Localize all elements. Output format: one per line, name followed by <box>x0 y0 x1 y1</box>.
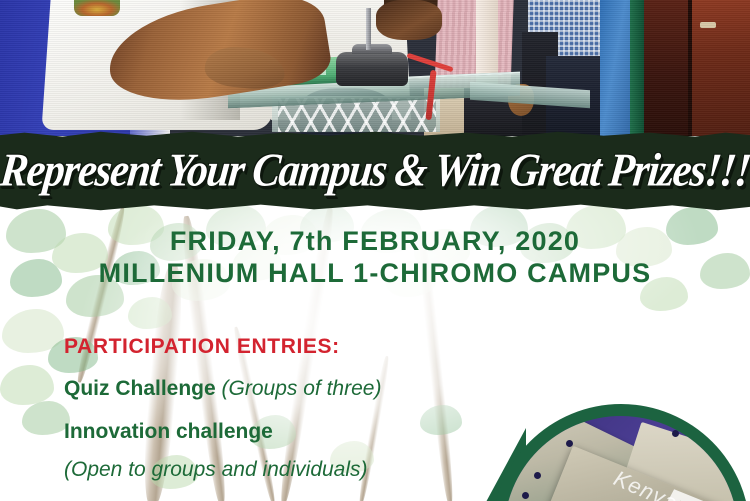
entry-item-innovation: Innovation challenge <box>64 420 273 444</box>
photo-shirt-badge <box>74 0 120 16</box>
entry-note: (Groups of three) <box>222 377 382 400</box>
photo-metal-apparatus <box>336 52 408 86</box>
event-date: FRIDAY, 7th FEBRUARY, 2020 <box>0 225 750 257</box>
banknote-dot <box>566 440 573 447</box>
leaf <box>0 365 54 405</box>
photo-podium-seam <box>688 0 692 136</box>
leaf <box>420 405 462 435</box>
entry-item-quiz: Quiz Challenge (Groups of three) <box>64 377 381 401</box>
event-details: FRIDAY, 7th FEBRUARY, 2020 MILLENIUM HAL… <box>0 225 750 289</box>
photo-arm-second <box>376 0 442 40</box>
event-venue: MILLENIUM HALL 1-CHIROMO CAMPUS <box>0 257 750 289</box>
entry-name: Quiz Challenge <box>64 377 216 400</box>
headline-text: Represent Your Campus & Win Great Prizes… <box>0 136 750 205</box>
leaf <box>2 309 64 353</box>
leaf <box>22 401 70 435</box>
photo-metal-apparatus-top <box>352 44 392 54</box>
participation-entries-heading: PARTICIPATION ENTRIES: <box>64 335 340 359</box>
banknote-dot <box>672 430 679 437</box>
photo-wooden-podium-right <box>690 0 750 136</box>
photo-wooden-podium-left <box>644 0 694 136</box>
photo-binder-edge <box>630 0 644 136</box>
poster-root: Represent Your Campus & Win Great Prizes… <box>0 0 750 501</box>
top-event-photo <box>0 0 750 136</box>
photo-podium-knob <box>700 22 716 28</box>
entry-name: Innovation challenge <box>64 420 273 443</box>
entries-footnote: (Open to groups and individuals) <box>64 458 368 482</box>
photo-metal-pipe <box>366 8 371 50</box>
leaf <box>128 297 172 329</box>
banknote-dot <box>534 472 541 479</box>
banknote-dot <box>522 492 529 499</box>
